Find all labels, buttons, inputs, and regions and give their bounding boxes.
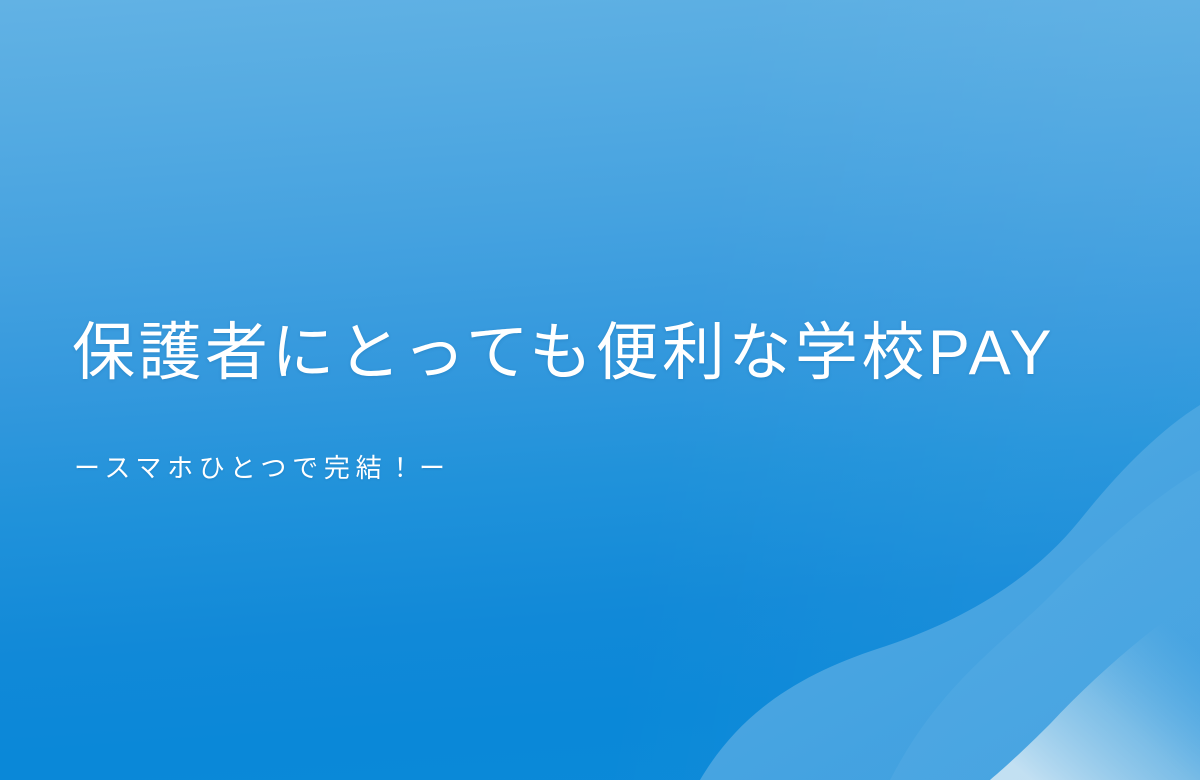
- page-title: 保護者にとっても便利な学校PAY: [72, 318, 1055, 389]
- presentation-slide: 保護者にとっても便利な学校PAY ースマホひとつで完結！ー: [0, 0, 1200, 780]
- page-subtitle: ースマホひとつで完結！ー: [72, 389, 1055, 484]
- slide-text-block: 保護者にとっても便利な学校PAY ースマホひとつで完結！ー: [72, 318, 1055, 484]
